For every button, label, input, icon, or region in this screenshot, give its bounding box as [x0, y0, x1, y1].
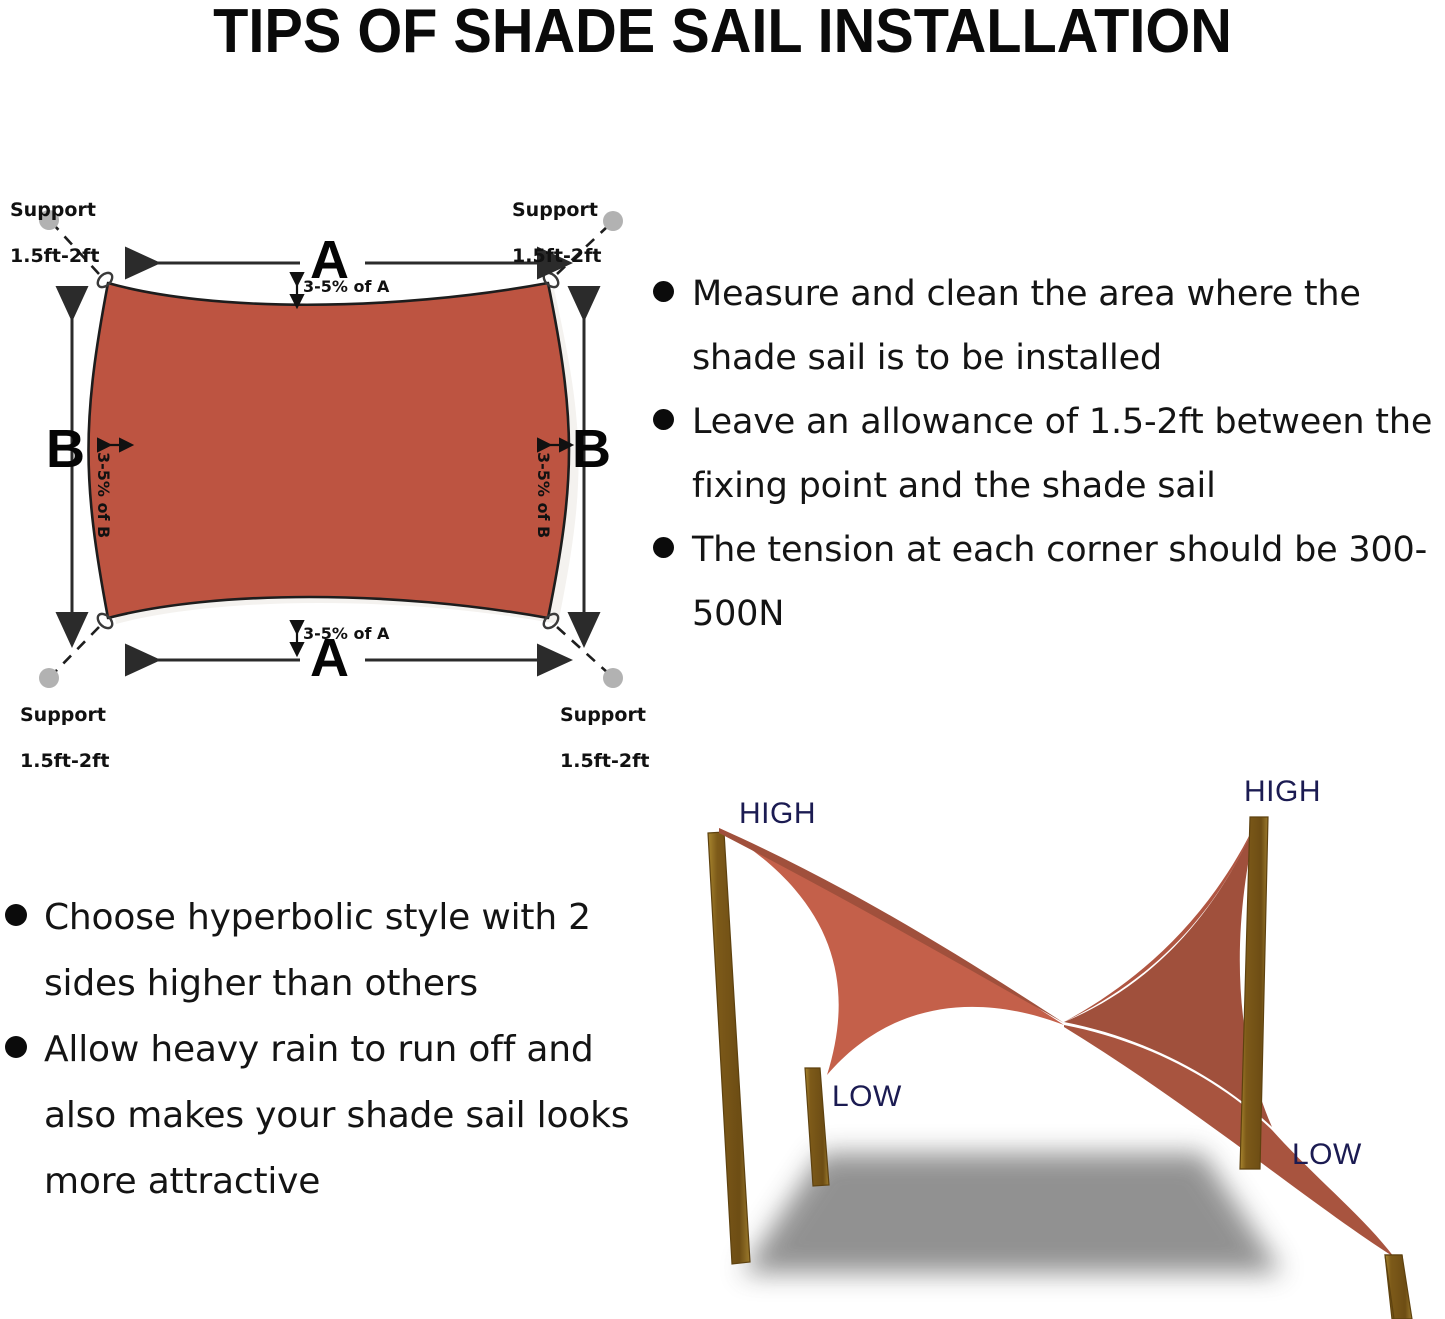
- bullet-dot-icon: [5, 1036, 27, 1058]
- support-label-top-left: Support 1.5ft-2ft: [10, 176, 99, 268]
- hyperbolic-sail-illustration: HIGH HIGH LOW LOW: [672, 775, 1445, 1319]
- tip-text: Choose hyperbolic style with 2 sides hig…: [44, 885, 630, 1017]
- support-dot-top-right: [603, 211, 623, 231]
- post-low-left: [805, 1068, 829, 1186]
- label-high-left: HIGH: [739, 797, 816, 831]
- page-title: TIPS OF SHADE SAIL INSTALLATION: [51, 0, 1395, 67]
- dimension-letter-b-right: B: [572, 422, 611, 476]
- tip-text: Allow heavy rain to run off and also mak…: [44, 1017, 630, 1215]
- list-item: Allow heavy rain to run off and also mak…: [0, 1017, 630, 1215]
- installation-tips-list: Measure and clean the area where the sha…: [645, 262, 1445, 646]
- curve-label-left: 3-5% of B: [94, 452, 113, 538]
- list-item: Choose hyperbolic style with 2 sides hig…: [0, 885, 630, 1017]
- hypar-scene-svg: [672, 775, 1445, 1319]
- list-item: The tension at each corner should be 300…: [645, 518, 1445, 646]
- support-label-line1: Support: [10, 199, 96, 221]
- support-label-bottom-right: Support 1.5ft-2ft: [560, 681, 649, 773]
- dimension-letter-b-left: B: [46, 422, 85, 476]
- support-label-top-right: Support 1.5ft-2ft: [512, 176, 601, 268]
- support-label-line2: 1.5ft-2ft: [560, 750, 649, 772]
- list-item: Measure and clean the area where the sha…: [645, 262, 1445, 390]
- support-label-line1: Support: [512, 199, 598, 221]
- post-high-left: [708, 832, 750, 1264]
- bullet-dot-icon: [653, 537, 674, 558]
- label-low-right: LOW: [1292, 1138, 1362, 1172]
- curve-label-right: 3-5% of B: [534, 452, 553, 538]
- support-label-bottom-left: Support 1.5ft-2ft: [20, 681, 109, 773]
- curve-label-bottom: 3-5% of A: [303, 624, 389, 643]
- support-label-line2: 1.5ft-2ft: [10, 245, 99, 267]
- hyperbolic-style-tips-list: Choose hyperbolic style with 2 sides hig…: [0, 885, 630, 1215]
- bullet-dot-icon: [653, 409, 674, 430]
- tip-text: Measure and clean the area where the sha…: [692, 262, 1445, 390]
- label-low-left: LOW: [832, 1080, 902, 1114]
- bullet-dot-icon: [653, 281, 674, 302]
- support-label-line2: 1.5ft-2ft: [20, 750, 109, 772]
- support-label-line1: Support: [20, 704, 106, 726]
- post-low-right-lower: [1385, 1255, 1412, 1319]
- sail-lobe-front: [719, 828, 1064, 1075]
- tip-text: The tension at each corner should be 300…: [692, 518, 1445, 646]
- shade-sail-shape: [89, 283, 570, 618]
- rectangular-sail-diagram: Support 1.5ft-2ft Support 1.5ft-2ft Supp…: [0, 150, 660, 730]
- label-high-right: HIGH: [1244, 775, 1321, 809]
- support-label-line1: Support: [560, 704, 646, 726]
- curve-label-top: 3-5% of A: [303, 277, 389, 296]
- list-item: Leave an allowance of 1.5-2ft between th…: [645, 390, 1445, 518]
- bullet-dot-icon: [5, 904, 27, 926]
- tip-text: Leave an allowance of 1.5-2ft between th…: [692, 390, 1445, 518]
- support-label-line2: 1.5ft-2ft: [512, 245, 601, 267]
